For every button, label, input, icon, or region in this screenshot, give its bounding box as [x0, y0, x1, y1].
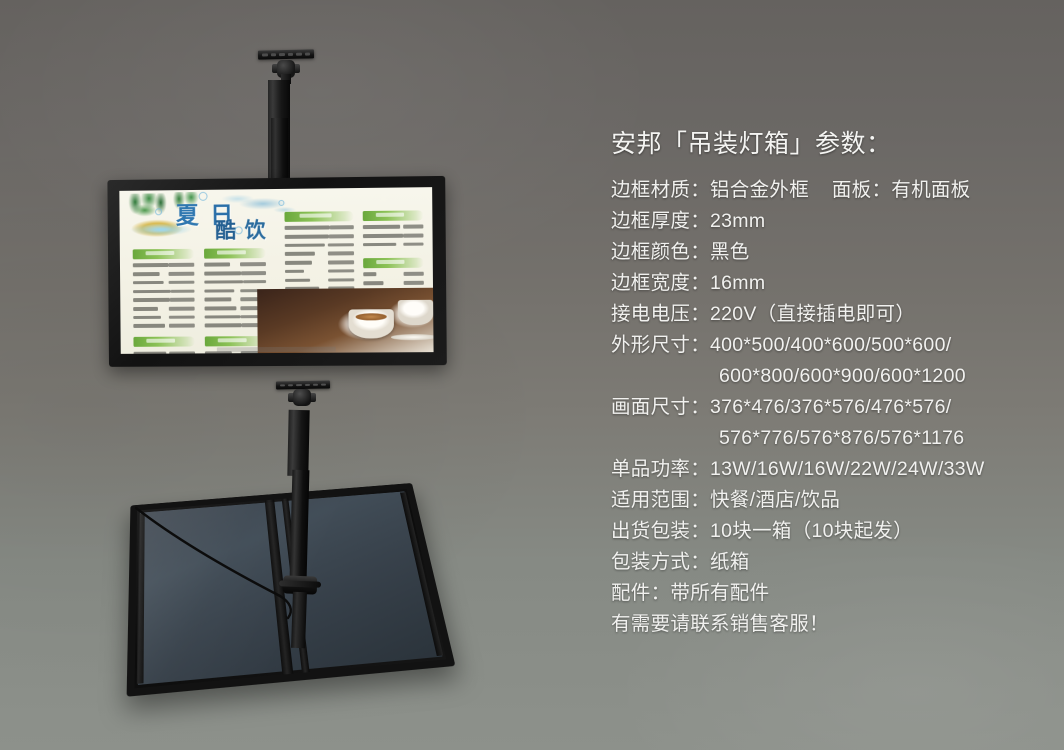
hero-title-char-1: 夏: [176, 196, 199, 230]
menu-row: [363, 232, 423, 239]
spec-line-voltage: 接电电压：220V（直接插电即可）: [611, 299, 1041, 330]
coffee-cup-back: [398, 299, 434, 325]
menu-row: [132, 270, 194, 277]
drop-pole-lower-inner: [290, 470, 310, 580]
hero-title-char-4: 饮: [245, 214, 266, 244]
tilt-pivot-joint-upper: [272, 58, 300, 82]
spec-line-frame-material-and-panel: 边框材质：铝合金外框 面板：有机面板: [611, 175, 1041, 206]
menu-row: [133, 350, 195, 354]
menu-row: [285, 259, 354, 266]
spec-line-power: 单品功率：13W/16W/16W/22W/24W/33W: [611, 454, 1041, 485]
menu-row: [285, 233, 354, 240]
menu-row: [204, 270, 266, 277]
menu-section-header: [204, 248, 266, 259]
menu-row: [363, 271, 423, 278]
menu-row: [133, 322, 195, 329]
menu-row: [285, 242, 354, 249]
menu-artwork: 夏 日 酷 饮: [119, 187, 433, 354]
spec-line-frame-color: 边框颜色：黑色: [611, 237, 1041, 268]
spec-line-frame-width: 边框宽度：16mm: [611, 268, 1041, 299]
page-title: 安邦「吊装灯箱」参数：: [611, 127, 1041, 161]
mount-rail-lower: [291, 592, 307, 648]
pivot-knuckle-lower: [293, 389, 311, 406]
rear-edge-left: [137, 513, 145, 684]
spec-line-applications: 适用范围：快餐/酒店/饮品: [611, 485, 1041, 516]
menu-section-header: [132, 249, 194, 260]
menu-row: [363, 279, 423, 286]
bubble-icon-4: [235, 226, 243, 234]
mount-plate-slots: [262, 51, 310, 58]
menu-row: [132, 279, 194, 286]
spec-panel: 安邦「吊装灯箱」参数： 边框材质：铝合金外框 面板：有机面板 边框厚度：23mm…: [611, 127, 1041, 640]
menu-watermark: [217, 347, 336, 353]
menu-row: [133, 314, 195, 321]
menu-section-header: [284, 211, 353, 222]
spec-line-outer-size-2: 600*800/600*900/600*1200: [611, 361, 1041, 392]
menu-section-header: [363, 210, 423, 221]
spec-line-accessories: 配件：带所有配件: [611, 578, 1041, 609]
coffee-saucer: [391, 334, 434, 340]
menu-column-1: [132, 249, 195, 354]
spec-line-picture-size-2: 576*776/576*876/576*1176: [611, 423, 1041, 454]
menu-row: [204, 261, 266, 268]
drop-pole-lower-outer: [287, 410, 309, 476]
menu-row: [285, 268, 354, 275]
menu-row: [204, 278, 266, 285]
spec-line-outer-size-1: 外形尺寸：400*500/400*600/500*600/: [611, 330, 1041, 361]
spec-line-contact: 有需要请联系销售客服！: [611, 609, 1041, 640]
menu-row: [284, 224, 353, 231]
menu-row: [363, 241, 423, 248]
coffee-photo: [257, 288, 434, 353]
hero-title-char-3: 酷: [215, 215, 236, 245]
spec-line-frame-thickness: 边框厚度：23mm: [611, 206, 1041, 237]
lightbox-frame-front: 夏 日 酷 饮: [107, 176, 446, 367]
lightbox-menu-panel: 夏 日 酷 饮: [119, 187, 433, 354]
menu-hero-area: 夏 日 酷 饮: [119, 189, 300, 247]
menu-row: [133, 296, 195, 303]
menu-row: [132, 262, 194, 269]
menu-row: [285, 276, 354, 283]
bubble-icon-3: [278, 200, 284, 206]
menu-row: [133, 305, 195, 312]
menu-section-header: [133, 337, 195, 347]
tilt-pivot-joint-lower: [288, 388, 316, 411]
lightbox-front-view: 夏 日 酷 饮: [107, 178, 445, 366]
menu-row: [285, 250, 354, 257]
menu-section-header: [363, 257, 423, 268]
menu-row: [133, 288, 195, 295]
coffee-cup-front: [348, 309, 394, 339]
spec-line-picture-size-1: 画面尺寸：376*476/376*576/476*576/: [611, 392, 1041, 423]
menu-row: [363, 223, 423, 230]
spec-line-shipping-packaging: 出货包装：10块一箱（10块起发）: [611, 516, 1041, 547]
spec-line-packaging-method: 包装方式：纸箱: [611, 547, 1041, 578]
